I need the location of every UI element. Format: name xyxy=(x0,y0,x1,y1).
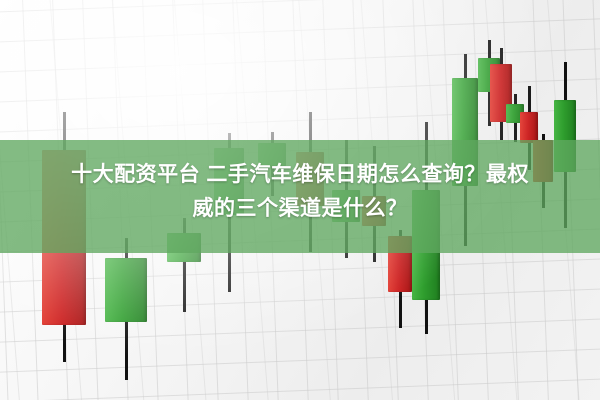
headline-band xyxy=(0,140,600,253)
chart-canvas: 十大配资平台 二手汽车维保日期怎么查询？最权 威的三个渠道是什么？ xyxy=(0,0,600,400)
candlestick-body-up xyxy=(105,258,147,322)
candlestick-body-down xyxy=(520,112,538,143)
